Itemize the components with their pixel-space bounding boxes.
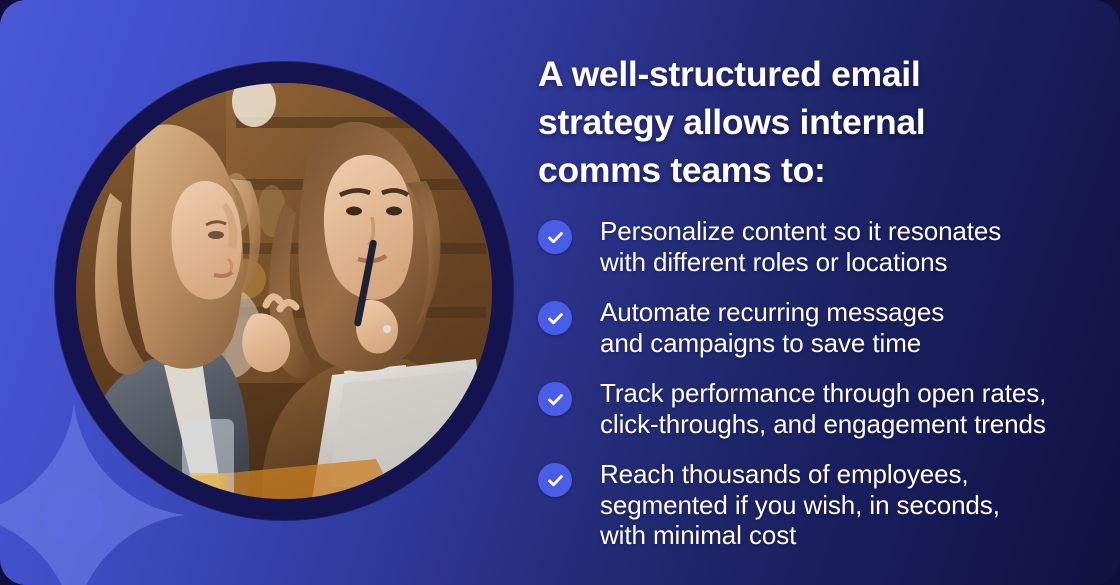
list-item-label: Reach thousands of employees, segmented … — [600, 459, 1000, 551]
list-item: Automate recurring messages and campaign… — [538, 297, 1086, 358]
list-item-label: Automate recurring messages and campaign… — [600, 297, 944, 358]
content-column: A well-structured email strategy allows … — [538, 50, 1086, 551]
benefits-list: Personalize content so it resonates with… — [538, 216, 1086, 551]
check-icon — [538, 463, 572, 497]
team-photo — [76, 83, 492, 499]
page-title: A well-structured email strategy allows … — [538, 50, 1086, 194]
check-icon — [538, 301, 572, 335]
list-item: Personalize content so it resonates with… — [538, 216, 1086, 277]
list-item-label: Track performance through open rates, cl… — [600, 378, 1046, 439]
list-item: Track performance through open rates, cl… — [538, 378, 1086, 439]
photo-ring-frame — [55, 62, 513, 520]
check-icon — [538, 382, 572, 416]
promo-card: A well-structured email strategy allows … — [0, 0, 1120, 585]
list-item-label: Personalize content so it resonates with… — [600, 216, 1001, 277]
list-item: Reach thousands of employees, segmented … — [538, 459, 1086, 551]
check-icon — [538, 220, 572, 254]
